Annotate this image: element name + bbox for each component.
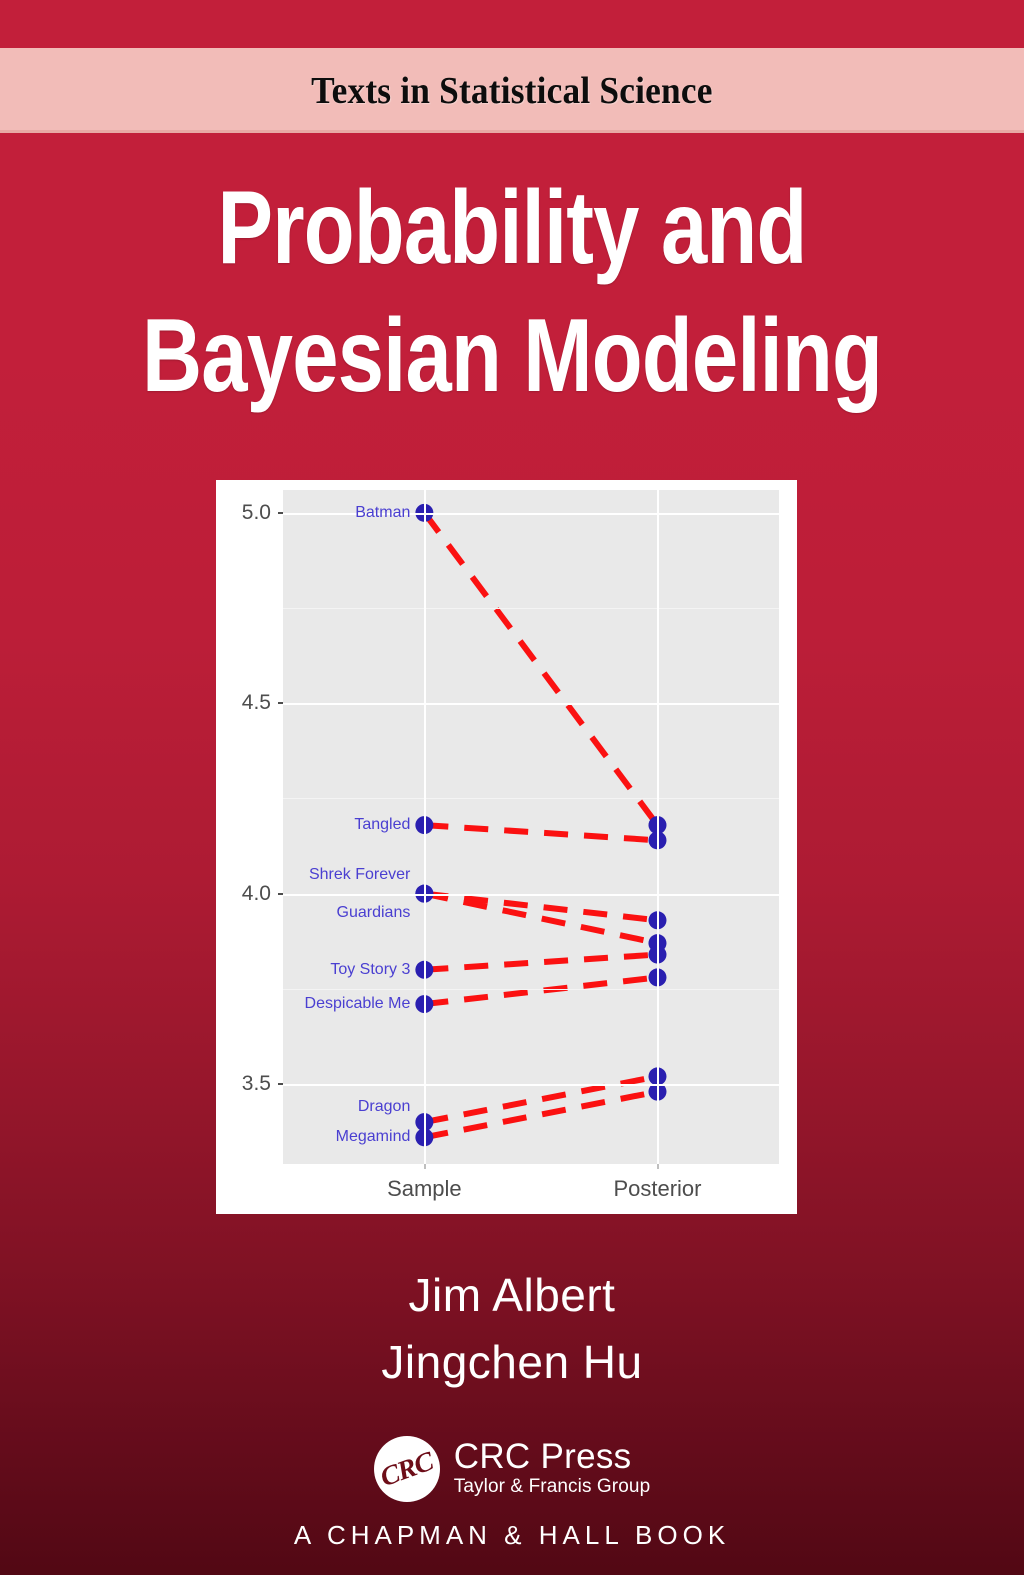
data-point-label: Tangled bbox=[276, 816, 410, 834]
gridline-minor bbox=[283, 798, 779, 799]
gridline-major-horizontal bbox=[283, 1084, 779, 1086]
series-banner-label: Texts in Statistical Science bbox=[311, 69, 712, 113]
y-axis-tick-label: 4.0 bbox=[216, 882, 271, 906]
data-point-label: Despicable Me bbox=[276, 995, 410, 1013]
gridline-major-horizontal bbox=[283, 894, 779, 896]
crc-press-label: CRC Press bbox=[454, 1439, 651, 1475]
publisher-block: CRC CRC Press Taylor & Francis Group A C… bbox=[0, 1436, 1024, 1551]
author-name-2: Jingchen Hu bbox=[0, 1329, 1024, 1396]
gridline-major-horizontal bbox=[283, 703, 779, 705]
gridline-major-vertical bbox=[424, 490, 426, 1164]
book-cover: Texts in Statistical Science Probability… bbox=[0, 0, 1024, 1575]
series-connector-line bbox=[424, 894, 657, 921]
x-axis-tick-mark bbox=[424, 1164, 426, 1169]
crc-roundel-icon: CRC bbox=[374, 1436, 440, 1502]
x-axis-tick-mark bbox=[657, 1164, 659, 1169]
series-connector-line bbox=[424, 894, 657, 944]
crc-press-logo: CRC CRC Press Taylor & Francis Group bbox=[374, 1436, 651, 1502]
y-axis-tick-mark bbox=[278, 702, 283, 704]
series-connector-line bbox=[424, 977, 657, 1004]
data-point-label: Dragon bbox=[276, 1098, 410, 1116]
taylor-francis-label: Taylor & Francis Group bbox=[454, 1475, 651, 1500]
cover-chart-figure: 5.04.54.03.5SamplePosteriorBatmanTangled… bbox=[216, 480, 797, 1214]
y-axis-tick-label: 5.0 bbox=[216, 501, 271, 525]
author-block: Jim Albert Jingchen Hu bbox=[0, 1262, 1024, 1395]
gridline-minor bbox=[283, 608, 779, 609]
book-title-line-2: Bayesian Modeling bbox=[102, 304, 921, 408]
gridline-minor bbox=[283, 989, 779, 990]
top-red-band bbox=[0, 0, 1024, 48]
crc-wordmark: CRC Press Taylor & Francis Group bbox=[454, 1439, 651, 1499]
title-block: Probability and Bayesian Modeling bbox=[0, 176, 1024, 408]
series-band-bottom-rule bbox=[0, 130, 1024, 133]
crc-roundel-label: CRC bbox=[376, 1445, 437, 1492]
y-axis-tick-mark bbox=[278, 1083, 283, 1085]
data-point-label: Toy Story 3 bbox=[276, 961, 410, 979]
data-point-label: Batman bbox=[276, 504, 410, 522]
y-axis-tick-label: 4.5 bbox=[216, 691, 271, 715]
book-title-line-1: Probability and bbox=[102, 176, 921, 280]
data-point-label: Megamind bbox=[276, 1128, 410, 1146]
author-name-1: Jim Albert bbox=[0, 1262, 1024, 1329]
x-axis-tick-label: Sample bbox=[387, 1176, 462, 1202]
series-banner: Texts in Statistical Science bbox=[0, 48, 1024, 133]
series-connector-line bbox=[424, 1092, 657, 1138]
data-point-label: Shrek Forever bbox=[276, 866, 410, 884]
chapman-hall-imprint-label: A CHAPMAN & HALL BOOK bbox=[0, 1520, 1024, 1551]
series-connector-line bbox=[424, 825, 657, 840]
y-axis-tick-mark bbox=[278, 893, 283, 895]
series-connector-line bbox=[424, 955, 657, 970]
x-axis-tick-label: Posterior bbox=[613, 1176, 701, 1202]
y-axis-tick-label: 3.5 bbox=[216, 1072, 271, 1096]
series-connector-line bbox=[424, 513, 657, 825]
data-point-label: Guardians bbox=[276, 904, 410, 922]
gridline-major-vertical bbox=[657, 490, 659, 1164]
